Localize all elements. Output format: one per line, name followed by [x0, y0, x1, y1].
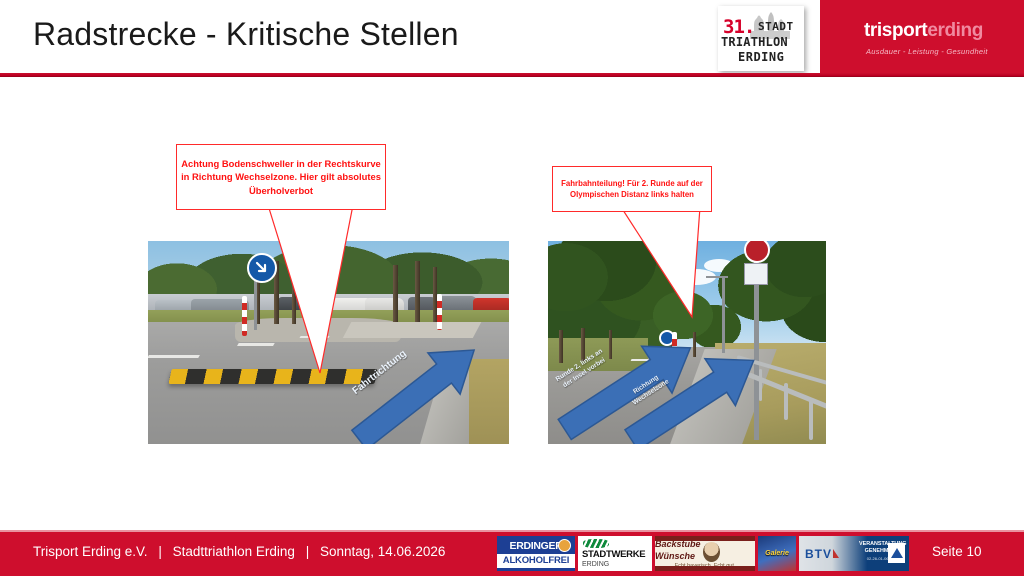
btv-triangle-icon — [833, 549, 839, 558]
callout-left-box[interactable]: Achtung Bodenschweller in der Rechtskurv… — [176, 144, 386, 210]
sponsor-backstube-line1b: Wünsche — [655, 551, 695, 561]
footer-divider — [0, 530, 1024, 532]
callout-left-text: Achtung Bodenschweller in der Rechtskurv… — [177, 157, 385, 197]
sponsor-btv-label: BTV — [805, 547, 832, 561]
logo-line-triathlon: TRIATHLON — [721, 35, 788, 49]
sponsor-backstube-wuensche[interactable]: Backstube Wünsche Echt bayerisch. Echt g… — [655, 536, 755, 571]
stadttriathlon-logo: 31. STADT TRIATHLON ERDING — [718, 6, 804, 71]
footer-date: Sonntag, 14.06.2026 — [320, 544, 445, 559]
guardrail-post — [809, 399, 813, 440]
footer-separator: | — [299, 544, 317, 559]
dtv-badge-icon — [888, 543, 905, 563]
backstube-portrait-icon — [703, 542, 720, 562]
footer-info: Trisport Erding e.V. | Stadttriathlon Er… — [33, 544, 445, 559]
brand-name-primary: trisport — [864, 20, 927, 41]
header-divider — [0, 73, 1024, 77]
brand-claim: Ausdauer - Leistung - Gesundheit — [866, 47, 988, 56]
backstube-border-top — [655, 536, 755, 541]
sponsor-stadtwerke[interactable]: STADTWERKE ERDING — [578, 536, 652, 571]
sponsor-stadtwerke-line2: ERDING — [582, 560, 609, 569]
sponsor-erdinger-line2: ALKOHOLFREI — [497, 554, 575, 568]
slide-header: Radstrecke - Kritische Stellen trisporte… — [0, 0, 1024, 78]
sponsor-bar: ERDINGER ALKOHOLFREI STADTWERKE ERDING B… — [497, 536, 911, 571]
backstube-border-bottom — [655, 566, 755, 571]
logo-line-erding: ERDING — [738, 50, 784, 64]
callout-left-pointer — [148, 205, 509, 375]
slide: Radstrecke - Kritische Stellen trisporte… — [0, 0, 1024, 576]
brand-name-secondary: erding — [927, 20, 983, 41]
sponsor-btv-name: BTV — [805, 547, 839, 561]
guardrail-post — [784, 383, 788, 420]
footer-separator: | — [151, 544, 169, 559]
sponsor-stadtwerke-line1: STADTWERKE — [582, 549, 645, 560]
sponsor-btva[interactable]: BTV VERANSTALTUNG GENEHMIGT 02-26-01-063… — [799, 536, 909, 571]
sponsor-erdinger[interactable]: ERDINGER ALKOHOLFREI — [497, 536, 575, 571]
logo-line-stadt: STADT — [758, 20, 794, 33]
footer-event: Stadttriathlon Erding — [173, 544, 295, 559]
page-number: Seite 10 — [932, 544, 982, 559]
erdinger-emblem-icon — [558, 539, 571, 552]
sponsor-galerie[interactable]: Galerie — [758, 536, 796, 571]
callout-right-text: Fahrbahnteilung! Für 2. Runde auf der Ol… — [553, 178, 711, 201]
callout-right-pointer — [548, 207, 826, 319]
trisport-erding-logo: trisporterding — [864, 20, 983, 42]
page-title: Radstrecke - Kritische Stellen — [33, 16, 459, 53]
sponsor-galerie-name: Galerie — [765, 550, 789, 557]
callout-right-box[interactable]: Fahrbahnteilung! Für 2. Runde auf der Ol… — [552, 166, 712, 212]
footer-org: Trisport Erding e.V. — [33, 544, 148, 559]
arrow-richtung-wechselzone — [615, 336, 776, 444]
stadtwerke-swoosh-icon — [583, 539, 609, 548]
